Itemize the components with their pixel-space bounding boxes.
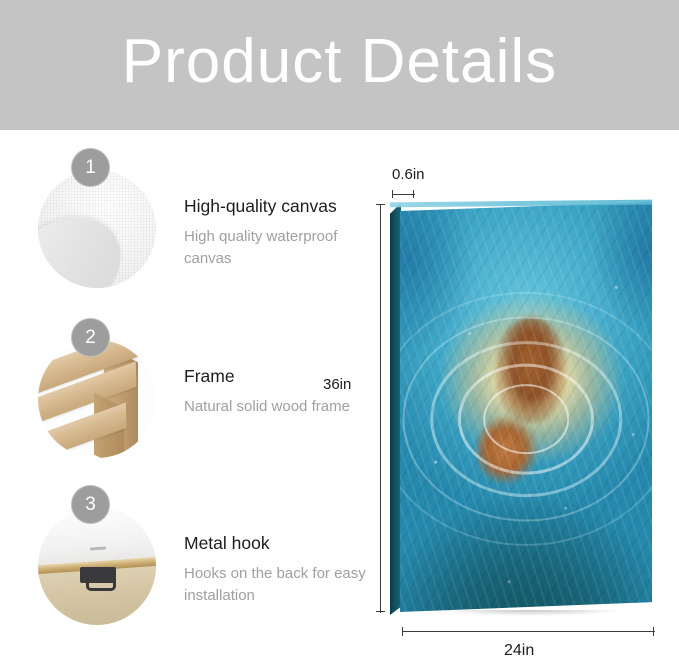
feature-badge-2: 2 xyxy=(71,318,110,357)
product-mockup: 0.6in 36in 24in xyxy=(330,130,679,658)
feature-badge-3: 3 xyxy=(71,485,110,524)
metal-hook-hardware-icon xyxy=(80,567,116,583)
feature-item-canvas: 1 High-quality canvas High quality water… xyxy=(0,148,380,318)
wood-frame-image xyxy=(38,340,156,458)
feature-thumbnail-frame: 2 xyxy=(38,318,158,468)
dimension-width-label: 24in xyxy=(504,642,534,660)
artwork-brush-strokes xyxy=(400,202,652,612)
header-band: Product Details xyxy=(0,0,679,130)
page-title: Product Details xyxy=(122,31,557,99)
feature-badge-1: 1 xyxy=(71,148,110,187)
dimension-depth-label: 0.6in xyxy=(392,166,425,183)
feature-description: Natural solid wood frame xyxy=(184,396,350,418)
feature-item-frame: 2 Frame Natural solid wood frame xyxy=(0,318,380,488)
feature-item-hook: 3 Metal hook Hooks on the back for easy … xyxy=(0,485,380,655)
artwork-canvas-image xyxy=(400,202,652,612)
metal-hook-image xyxy=(38,507,156,625)
canvas-swatch-image xyxy=(38,170,156,288)
feature-text-block: Frame Natural solid wood frame xyxy=(184,318,350,418)
feature-list: 1 High-quality canvas High quality water… xyxy=(0,130,380,658)
dimension-width-line xyxy=(402,627,654,636)
feature-thumbnail-hook: 3 xyxy=(38,485,158,635)
dimension-height-label: 36in xyxy=(323,376,351,393)
canvas-drop-shadow xyxy=(406,610,656,626)
feature-thumbnail-canvas: 1 xyxy=(38,148,158,298)
dimension-height-line xyxy=(376,204,385,612)
canvas-wrapped-edge xyxy=(390,203,401,615)
dimension-depth-line xyxy=(392,190,414,198)
